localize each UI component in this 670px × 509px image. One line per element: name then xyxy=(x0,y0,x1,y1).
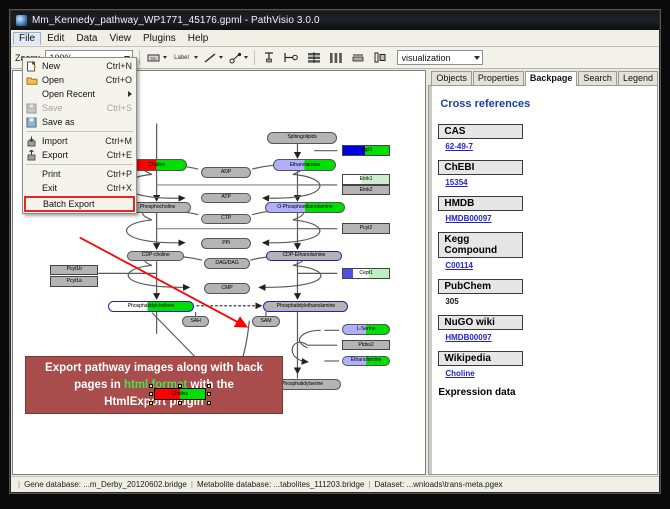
selection-handles[interactable] xyxy=(151,386,208,404)
menu-separator xyxy=(26,131,133,132)
resize-handle[interactable] xyxy=(207,392,211,396)
status-sep: | xyxy=(368,480,370,489)
pathway-node-sam[interactable]: SAM xyxy=(252,316,280,327)
xref-source-hmdb: HMDB xyxy=(438,196,523,211)
pathway-node-label: Pcyt1a xyxy=(67,279,82,284)
line-icon[interactable] xyxy=(202,50,218,66)
pathway-node-lserine[interactable]: L-Serine xyxy=(342,324,390,335)
file-menu-item-batch-export[interactable]: Batch Export xyxy=(24,196,135,212)
window-title: Mm_Kennedy_pathway_WP1771_45176.gpml - P… xyxy=(32,15,320,26)
menu-file[interactable]: File xyxy=(13,32,41,45)
gene-database-label: Gene database: xyxy=(24,480,81,489)
new-document-icon xyxy=(25,60,38,72)
save-as-icon xyxy=(25,116,38,128)
file-menu-item-label: Open Recent xyxy=(42,89,128,99)
xref-link-nugo-wiki[interactable]: HMDB00097 xyxy=(445,333,491,342)
pathway-node-ophosphoeth[interactable]: O-Phosphoethanolamine xyxy=(265,202,345,213)
export-icon xyxy=(25,149,38,161)
menu-view[interactable]: View xyxy=(103,32,137,45)
resize-handle[interactable] xyxy=(207,401,211,405)
save-disk-icon xyxy=(25,102,38,114)
pathway-node-label: PPi xyxy=(222,241,230,246)
xref-source-kegg-compound: Kegg Compound xyxy=(438,232,523,258)
title-bar: Mm_Kennedy_pathway_WP1771_45176.gpml - P… xyxy=(11,11,659,30)
metabolite-database-value: ...tabolites_111203.bridge xyxy=(273,480,364,489)
chevron-down-icon[interactable] xyxy=(163,56,167,59)
stack-center-icon[interactable] xyxy=(305,50,323,66)
file-menu-item-shortcut: Ctrl+S xyxy=(107,103,132,113)
xref-value-wrap: 15354 xyxy=(445,178,648,187)
xref-link-cas[interactable]: 62-49-7 xyxy=(445,142,473,151)
pathway-node-ppi[interactable]: PPi xyxy=(201,238,251,249)
pathway-node-pcyt1b[interactable]: Pcyt1b xyxy=(50,265,98,276)
gene-database-value: ...m_Derby_20120602.bridge xyxy=(83,480,187,489)
pathway-node-cdpcholine[interactable]: CDP-choline xyxy=(127,251,184,262)
cross-reference-list: CAS62-49-7ChEBI15354HMDBHMDB00097Kegg Co… xyxy=(438,124,648,378)
pathway-node-ptdss2[interactable]: Ptdss2 xyxy=(342,340,390,351)
xref-value-wrap: HMDB00097 xyxy=(445,333,648,342)
dataset-label: Dataset: xyxy=(374,480,404,489)
interaction-tool[interactable] xyxy=(227,50,248,66)
pathway-node-sgpl1[interactable]: Sgpl1 xyxy=(342,145,390,156)
file-menu-item-label: Export xyxy=(42,150,107,160)
order-icon[interactable] xyxy=(371,50,389,66)
pathway-node-label: O-Phosphoethanolamine xyxy=(277,205,332,210)
xref-value-wrap: 305 xyxy=(445,297,648,306)
toolbar-separator xyxy=(139,50,140,65)
pathway-node-pcyt1a[interactable]: Pcyt1a xyxy=(50,276,98,287)
callout-line-2a: pages in xyxy=(74,379,124,391)
visualization-combo[interactable]: visualization xyxy=(397,50,483,65)
pathway-node-label: Ethanolamine xyxy=(351,358,382,363)
align-left-icon[interactable] xyxy=(281,50,301,66)
pathway-node-label: Phosphatidylcholines xyxy=(128,304,175,309)
xref-value-wrap: HMDB00097 xyxy=(445,214,648,223)
file-menu-item-save: SaveCtrl+S xyxy=(23,101,136,115)
file-menu-item-open-recent[interactable]: Open Recent xyxy=(23,87,136,101)
label-icon[interactable]: Label xyxy=(171,50,193,66)
pathway-node-label: Phosphatidylserine xyxy=(281,382,323,387)
xref-link-chebi[interactable]: 15354 xyxy=(445,178,467,187)
file-menu-item-label: New xyxy=(42,61,106,71)
file-menu-item-shortcut: Ctrl+N xyxy=(106,61,132,71)
tab-properties[interactable]: Properties xyxy=(473,71,524,85)
pathway-node-label: Sgpl1 xyxy=(360,148,373,153)
xref-value-wrap: 62-49-7 xyxy=(445,142,648,151)
pathway-node-label: SAH xyxy=(190,319,200,324)
datanode-icon[interactable]: Gn xyxy=(146,50,162,66)
file-menu-item-open[interactable]: OpenCtrl+O xyxy=(23,73,136,87)
common-width-icon[interactable] xyxy=(327,50,345,66)
xref-source-cas: CAS xyxy=(438,124,523,139)
svg-text:Gn: Gn xyxy=(151,56,158,61)
pathway-node-label: CTP xyxy=(221,216,231,221)
file-menu-item-save-as[interactable]: Save as xyxy=(23,115,136,129)
callout-line-1: Export pathway images along with back xyxy=(45,362,263,374)
xref-source-chebi: ChEBI xyxy=(438,160,523,175)
resize-handle[interactable] xyxy=(149,392,153,396)
chevron-down-icon[interactable] xyxy=(244,56,248,59)
pathway-node-etnk2[interactable]: Etnk2 xyxy=(342,185,390,196)
toolbar-separator xyxy=(254,50,255,65)
file-menu-item-label: Batch Export xyxy=(43,199,129,209)
file-menu-item-shortcut: Ctrl+X xyxy=(107,183,132,193)
menu-item-icon-none xyxy=(25,182,38,194)
side-panel-tabs: Objects Properties Backpage Search Legen… xyxy=(428,70,658,86)
panel-edge xyxy=(429,86,432,474)
resize-handle[interactable] xyxy=(149,384,153,388)
pathway-node-label: Pcyt1b xyxy=(67,267,82,272)
pathway-node-ctp[interactable]: CTP xyxy=(201,214,251,225)
interaction-icon[interactable] xyxy=(227,50,243,66)
import-icon xyxy=(25,135,38,147)
pathway-node-cdpethanolamine[interactable]: CDP-Ethanolamine xyxy=(266,251,342,262)
pathway-node-adp[interactable]: ADP xyxy=(201,167,251,178)
file-menu-item-label: Import xyxy=(42,136,105,146)
pathway-node-label: Ethanolamine xyxy=(290,163,321,168)
pathway-node-etnk1[interactable]: Etnk1 xyxy=(342,174,390,185)
pathway-node-label: CDP-Ethanolamine xyxy=(283,253,326,258)
file-menu-item-shortcut: Ctrl+P xyxy=(107,169,132,179)
pathway-node-label: DAG/DAG xyxy=(215,261,238,266)
menu-plugins[interactable]: Plugins xyxy=(137,32,182,45)
pathway-node-label: Ptdss2 xyxy=(358,343,373,348)
pathway-node-phosphatidylcholines[interactable]: Phosphatidylcholines xyxy=(108,301,193,312)
pathway-node-pcyt2[interactable]: Pcyt2 xyxy=(342,223,390,234)
file-menu-dropdown[interactable]: NewCtrl+NOpenCtrl+OOpen RecentSaveCtrl+S… xyxy=(22,57,137,214)
datanode-tool[interactable]: Gn xyxy=(146,50,167,66)
pathway-node-ethanolamine1[interactable]: Ethanolamine xyxy=(273,159,336,170)
xref-value-wrap: Choline xyxy=(445,369,648,378)
line-tool[interactable] xyxy=(202,50,223,66)
xref-source-pubchem: PubChem xyxy=(438,279,523,294)
menu-help[interactable]: Help xyxy=(182,32,215,45)
pathway-node-label: Pcyt2 xyxy=(360,226,372,231)
pathway-node-atp[interactable]: ATP xyxy=(201,193,251,204)
submenu-arrow-icon xyxy=(128,91,132,97)
pathway-node-ethanolamine2[interactable]: Ethanolamine xyxy=(342,356,390,367)
application-window: Mm_Kennedy_pathway_WP1771_45176.gpml - P… xyxy=(10,10,660,493)
xref-source-wikipedia: Wikipedia xyxy=(438,351,523,366)
pathvisio-icon xyxy=(16,15,27,26)
chevron-down-icon[interactable] xyxy=(194,56,198,59)
menu-separator xyxy=(26,164,133,165)
side-panel: Objects Properties Backpage Search Legen… xyxy=(428,70,658,475)
file-menu-item-label: Save xyxy=(42,103,107,113)
pathway-node-label: Phosphocholine xyxy=(140,205,176,210)
file-menu-item-shortcut: Ctrl+M xyxy=(105,136,132,146)
status-sep: | xyxy=(18,480,20,489)
align-top-icon[interactable] xyxy=(261,50,277,66)
visualization-value: visualization xyxy=(402,53,451,63)
pathway-node-label: Phosphatidylethanolamine xyxy=(277,304,335,309)
pathway-node-label: SAM xyxy=(260,319,271,324)
pathway-node-label: Etnk2 xyxy=(360,188,373,193)
resize-handle[interactable] xyxy=(149,401,153,405)
pathway-node-dagdag[interactable]: DAG/DAG xyxy=(204,258,250,269)
pathway-node-label: CMP xyxy=(221,286,232,291)
chevron-down-icon[interactable] xyxy=(219,56,223,59)
file-menu-item-export[interactable]: ExportCtrl+E xyxy=(23,148,136,162)
cross-references-title: Cross references xyxy=(440,98,648,110)
tab-backpage[interactable]: Backpage xyxy=(525,71,578,86)
file-menu-item-label: Exit xyxy=(42,183,107,193)
tab-search[interactable]: Search xyxy=(578,71,617,85)
pathway-node-cmp[interactable]: CMP xyxy=(204,283,250,294)
menu-item-icon-none xyxy=(25,88,38,100)
menu-bar: File Edit Data View Plugins Help xyxy=(11,30,659,47)
label-tool[interactable]: Label xyxy=(171,50,198,66)
open-folder-icon xyxy=(25,74,38,86)
pathway-node-cept1[interactable]: Cept1 xyxy=(342,268,390,279)
file-menu-item-label: Print xyxy=(42,169,107,179)
pathway-node-sphingolipids[interactable]: Sphingolipids xyxy=(267,132,337,143)
pathway-node-phosphatidyleth[interactable]: Phosphatidylethanolamine xyxy=(263,301,348,312)
xref-link-wikipedia[interactable]: Choline xyxy=(445,369,474,378)
tab-legend[interactable]: Legend xyxy=(618,71,658,85)
pathway-node-label: Etnk1 xyxy=(360,177,373,182)
status-bar: | Gene database: ...m_Derby_20120602.bri… xyxy=(11,476,659,492)
pathway-node-label: ADP xyxy=(221,170,231,175)
menu-edit[interactable]: Edit xyxy=(41,32,70,45)
pathway-node-sah[interactable]: SAH xyxy=(182,316,210,327)
file-menu-item-new[interactable]: NewCtrl+N xyxy=(23,59,136,73)
pathway-node-label: CDP-choline xyxy=(142,253,170,258)
file-menu-item-shortcut: Ctrl+E xyxy=(107,150,132,160)
resize-handle[interactable] xyxy=(178,384,182,388)
file-menu-item-label: Open xyxy=(42,75,106,85)
expression-data-title: Expression data xyxy=(438,387,648,398)
tab-objects[interactable]: Objects xyxy=(431,71,472,85)
pathway-node-label: Choline xyxy=(148,163,165,168)
pathway-node-label: Sphingolipids xyxy=(287,135,317,140)
xref-value-wrap: C00114 xyxy=(445,261,648,270)
file-menu-item-print[interactable]: PrintCtrl+P xyxy=(23,167,136,181)
resize-handle[interactable] xyxy=(178,401,182,405)
backpage-panel[interactable]: Cross references CAS62-49-7ChEBI15354HMD… xyxy=(428,86,658,475)
pathway-node-label: ATP xyxy=(221,195,230,200)
file-menu-item-shortcut: Ctrl+O xyxy=(106,75,132,85)
common-height-icon[interactable] xyxy=(349,50,367,66)
file-menu-item-exit[interactable]: ExitCtrl+X xyxy=(23,181,136,195)
file-menu-item-label: Save as xyxy=(42,117,132,127)
menu-data[interactable]: Data xyxy=(70,32,103,45)
xref-link-hmdb[interactable]: HMDB00097 xyxy=(445,214,491,223)
metabolite-database-label: Metabolite database: xyxy=(197,480,271,489)
menu-item-icon-none xyxy=(25,168,38,180)
xref-link-kegg-compound[interactable]: C00114 xyxy=(445,261,473,270)
screen-root: Mm_Kennedy_pathway_WP1771_45176.gpml - P… xyxy=(0,0,670,509)
chevron-down-icon xyxy=(474,56,480,60)
resize-handle[interactable] xyxy=(207,384,211,388)
pathway-node-label: Cept1 xyxy=(359,271,372,276)
dataset-value: ...wnloads\trans-meta.pgex xyxy=(406,480,502,489)
xref-source-nugo-wiki: NuGO wiki xyxy=(438,315,523,330)
status-sep: | xyxy=(191,480,193,489)
pathway-node-label: L-Serine xyxy=(357,327,376,332)
file-menu-item-import[interactable]: ImportCtrl+M xyxy=(23,134,136,148)
